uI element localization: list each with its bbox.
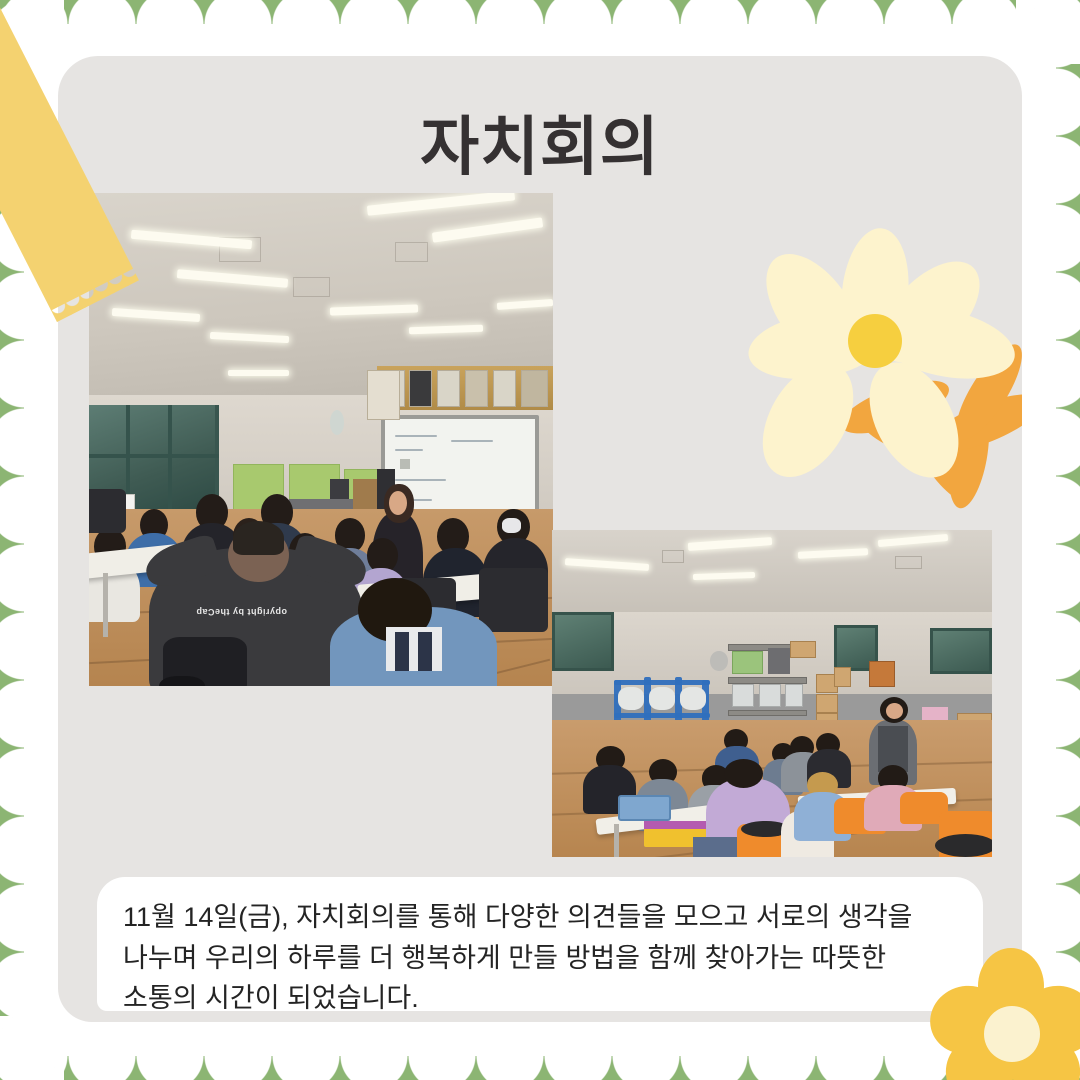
page-title: 자치회의 — [0, 96, 1080, 188]
flower-cream-icon — [748, 228, 1022, 518]
flower-gold-icon — [930, 948, 1080, 1080]
caption-box: 11월 14일(금), 자치회의를 통해 다양한 의견들을 모으고 서로의 생각… — [97, 877, 983, 1011]
photo-meeting-room: opyright by theCap — [89, 193, 553, 686]
flower-core — [848, 314, 902, 368]
caption-text: 11월 14일(금), 자치회의를 통해 다양한 의견들을 모으고 서로의 생각… — [123, 897, 957, 1019]
poster-background: opyright by theCap — [0, 0, 1080, 1080]
window-far-right — [930, 628, 992, 674]
photo-workshop-discussion — [552, 530, 992, 857]
window-left — [552, 612, 614, 671]
flower-core — [984, 1006, 1040, 1062]
